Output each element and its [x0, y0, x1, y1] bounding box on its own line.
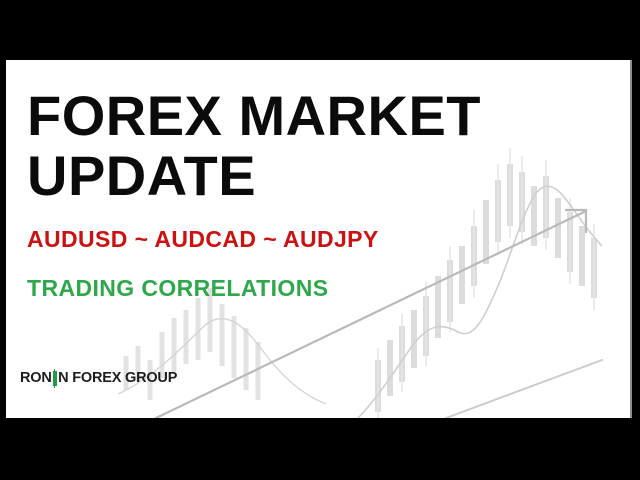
subtitle-currency-pairs: AUDUSD ~ AUDCAD ~ AUDJPY [27, 228, 481, 251]
slide-canvas: FOREX MARKET UPDATE AUDUSD ~ AUDCAD ~ AU… [6, 60, 632, 418]
video-frame: FOREX MARKET UPDATE AUDUSD ~ AUDCAD ~ AU… [0, 0, 640, 480]
brand-logo: RON N FOREX GROUP [20, 370, 177, 386]
page-title-line-1: FOREX MARKET [27, 86, 481, 146]
subtitle-topic: TRADING CORRELATIONS [27, 277, 481, 300]
logo-word-part-1: RON [20, 371, 52, 386]
slide-right-edge [630, 60, 632, 418]
logo-word-part-2: N FOREX GROUP [58, 371, 177, 386]
candlestick-icon [53, 371, 57, 386]
page-title-line-2: UPDATE [27, 146, 481, 206]
headline-block: FOREX MARKET UPDATE AUDUSD ~ AUDCAD ~ AU… [27, 86, 481, 300]
